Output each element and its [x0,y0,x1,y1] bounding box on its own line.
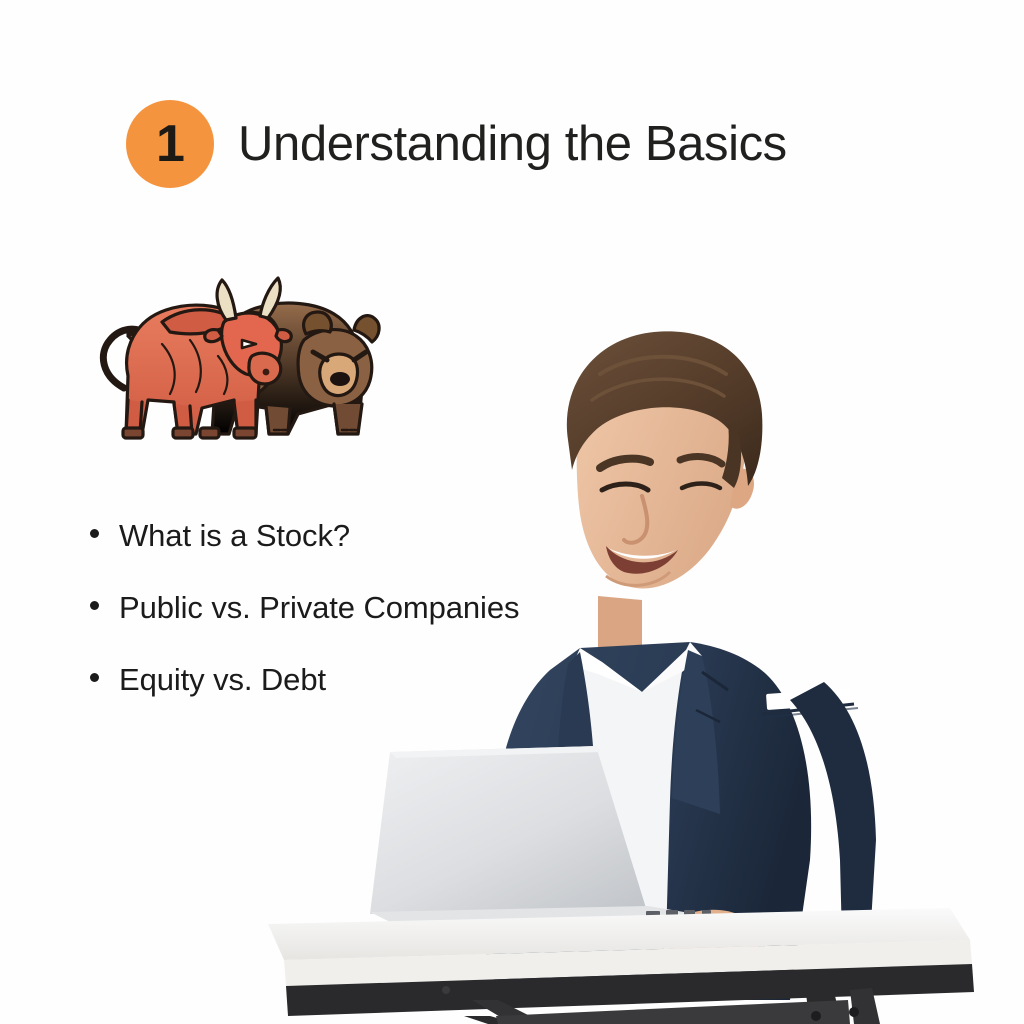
standing-desk [268,908,974,1024]
bullet-dot-icon [90,601,99,610]
bullet-dot-icon [90,529,99,538]
slide-header: 1 Understanding the Basics [126,100,787,188]
photo-man-at-standing-desk [250,300,1024,1024]
page-title: Understanding the Basics [238,116,787,172]
slide: 1 Understanding the Basics [0,0,1024,1024]
bullet-dot-icon [90,673,99,682]
step-number-badge: 1 [126,100,214,188]
step-number-label: 1 [156,118,184,170]
